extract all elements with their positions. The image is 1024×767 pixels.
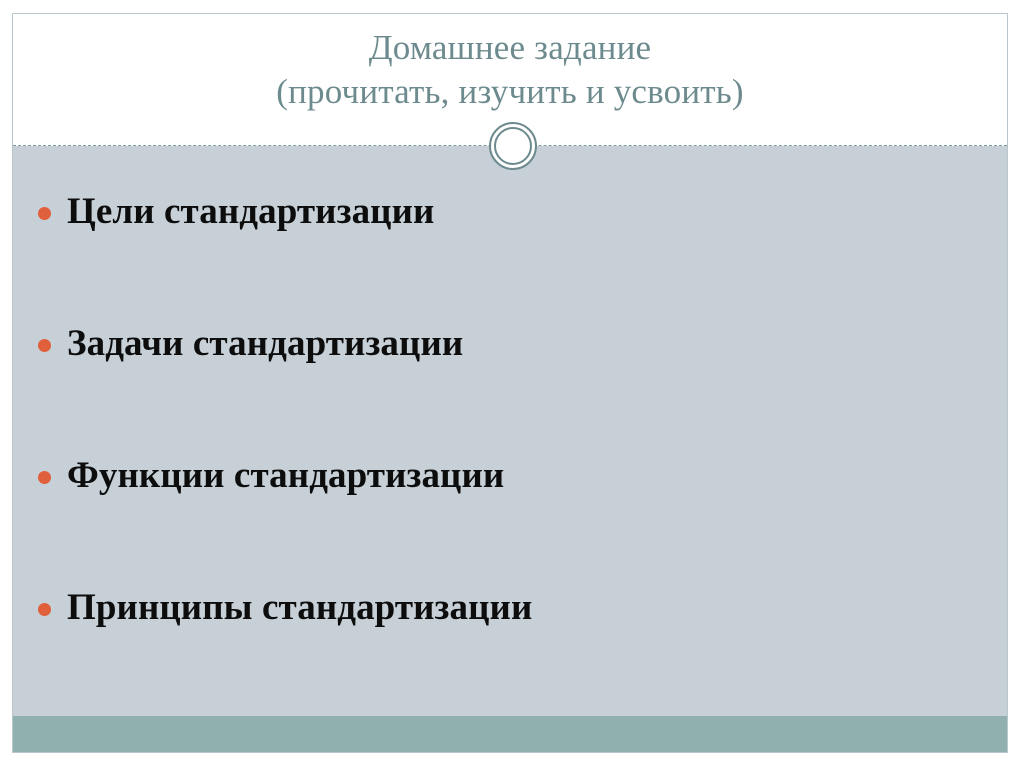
bullet-dot-icon <box>38 339 51 352</box>
slide-canvas: Домашнее задание (прочитать, изучить и у… <box>12 13 1008 753</box>
bullet-text: Задачи стандартизации <box>67 323 463 365</box>
circle-ornament-icon <box>489 122 537 170</box>
bullet-dot-icon <box>38 471 51 484</box>
list-item: Функции стандартизации <box>13 410 1007 542</box>
bullet-text: Функции стандартизации <box>67 455 504 497</box>
list-item: Принципы стандартизации <box>13 542 1007 674</box>
bullet-dot-icon <box>38 207 51 220</box>
slide-title: Домашнее задание (прочитать, изучить и у… <box>13 26 1007 114</box>
title-line-secondary: (прочитать, изучить и усвоить) <box>13 70 1007 114</box>
bullet-dot-icon <box>38 603 51 616</box>
bullet-text: Принципы стандартизации <box>67 587 532 629</box>
bullet-list: Цели стандартизации Задачи стандартизаци… <box>13 146 1007 674</box>
bottom-accent-bar <box>13 716 1007 752</box>
slide-body: Цели стандартизации Задачи стандартизаци… <box>13 146 1007 716</box>
title-line-primary: Домашнее задание <box>13 26 1007 70</box>
list-item: Задачи стандартизации <box>13 278 1007 410</box>
bullet-text: Цели стандартизации <box>67 191 434 233</box>
